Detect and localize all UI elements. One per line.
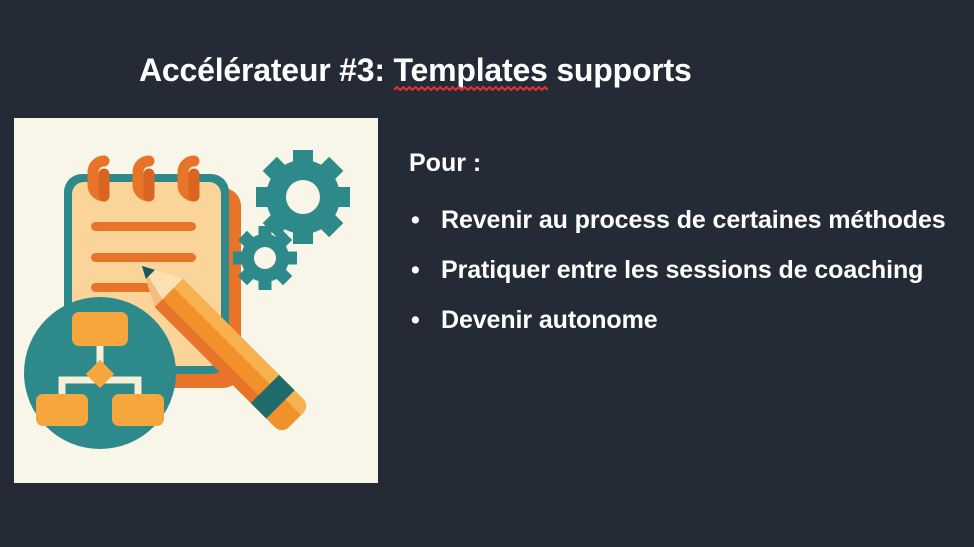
bullet-list: • Revenir au process de certaines méthod… bbox=[409, 196, 954, 344]
title-misspelled-word: Templates bbox=[394, 50, 548, 90]
title-misspelled-text: Templates bbox=[394, 52, 548, 88]
bullet-marker-icon: • bbox=[411, 196, 420, 244]
title-suffix: supports bbox=[548, 52, 692, 88]
list-item: • Revenir au process de certaines méthod… bbox=[409, 196, 954, 244]
list-item-text: Pratiquer entre les sessions de coaching bbox=[441, 246, 954, 294]
bullet-marker-icon: • bbox=[411, 296, 420, 344]
list-item-text: Revenir au process de certaines méthodes bbox=[441, 196, 954, 244]
list-item-text: Devenir autonome bbox=[441, 296, 954, 344]
title-prefix: Accélérateur #3: bbox=[139, 52, 394, 88]
bullet-marker-icon: • bbox=[411, 246, 420, 294]
illustration-image bbox=[14, 118, 378, 483]
content-heading: Pour : bbox=[409, 146, 954, 180]
page-title: Accélérateur #3: Templates supports bbox=[139, 50, 692, 90]
list-item: • Pratiquer entre les sessions de coachi… bbox=[409, 246, 954, 294]
list-item: • Devenir autonome bbox=[409, 296, 954, 344]
content-column: Pour : • Revenir au process de certaines… bbox=[409, 146, 954, 346]
slide-canvas: Accélérateur #3: Templates supports bbox=[0, 0, 974, 547]
